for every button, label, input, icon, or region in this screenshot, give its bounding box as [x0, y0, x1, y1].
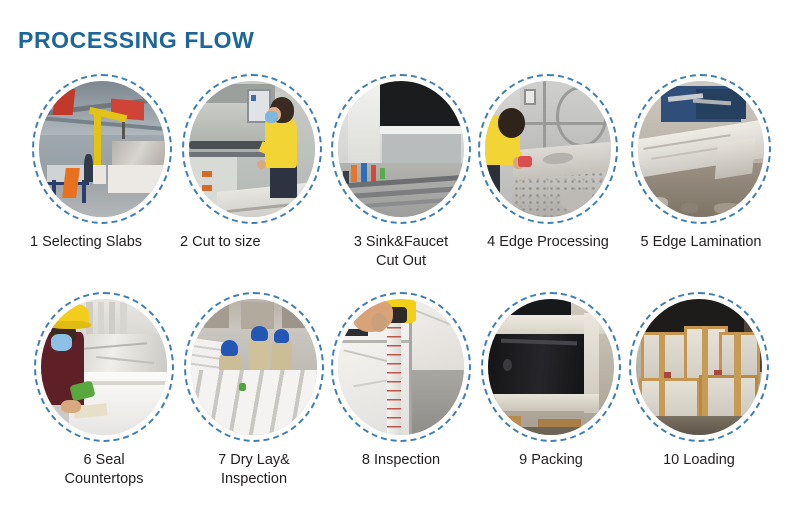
flow-step-1[interactable]: 1 Selecting Slabs — [26, 74, 178, 252]
photo-loading — [636, 299, 762, 435]
photo-edge-processing — [485, 81, 611, 217]
photo-packing — [488, 299, 614, 435]
photo-seal-countertops — [41, 299, 167, 435]
flow-step-3-caption: 3 Sink&Faucet Cut Out — [325, 233, 477, 271]
flow-step-6[interactable]: 6 Seal Countertops — [28, 292, 180, 489]
photo-ring-6 — [34, 292, 174, 442]
photo-ring-3 — [331, 74, 471, 224]
photo-sink-faucet-cut-out — [338, 81, 464, 217]
photo-ring-9 — [481, 292, 621, 442]
photo-ring-8 — [331, 292, 471, 442]
flow-step-3[interactable]: 3 Sink&Faucet Cut Out — [325, 74, 477, 271]
photo-ring-2 — [182, 74, 322, 224]
flow-step-9-caption: 9 Packing — [475, 451, 627, 470]
flow-step-2-caption: 2 Cut to size — [176, 233, 328, 252]
flow-step-5-caption: 5 Edge Lamination — [625, 233, 777, 252]
photo-dry-lay-inspection — [191, 299, 317, 435]
flow-step-9[interactable]: 9 Packing — [475, 292, 627, 470]
flow-step-10[interactable]: 10 Loading — [623, 292, 775, 470]
flow-step-7[interactable]: 7 Dry Lay& Inspection — [178, 292, 330, 489]
flow-step-8-caption: 8 Inspection — [325, 451, 477, 470]
flow-row-1: 1 Selecting Slabs 2 Cut t — [0, 74, 790, 274]
flow-step-2[interactable]: 2 Cut to size — [176, 74, 328, 252]
photo-cut-to-size — [189, 81, 315, 217]
flow-step-10-caption: 10 Loading — [623, 451, 775, 470]
photo-selecting-slabs — [39, 81, 165, 217]
photo-inspection — [338, 299, 464, 435]
flow-step-4-caption: 4 Edge Processing — [472, 233, 624, 252]
flow-step-5[interactable]: 5 Edge Lamination — [625, 74, 777, 252]
page-title: PROCESSING FLOW — [18, 26, 254, 54]
flow-step-6-caption: 6 Seal Countertops — [28, 451, 180, 489]
flow-step-8[interactable]: 8 Inspection — [325, 292, 477, 470]
photo-ring-5 — [631, 74, 771, 224]
photo-ring-1 — [32, 74, 172, 224]
photo-ring-10 — [629, 292, 769, 442]
flow-row-2: 6 Seal Countertops 7 Dry Lay& Inspecti — [0, 292, 790, 492]
photo-edge-lamination — [638, 81, 764, 217]
photo-ring-4 — [478, 74, 618, 224]
processing-flow-page: PROCESSING FLOW 1 Selecting Slabs — [0, 0, 790, 520]
photo-ring-7 — [184, 292, 324, 442]
flow-step-1-caption: 1 Selecting Slabs — [26, 233, 178, 252]
flow-step-7-caption: 7 Dry Lay& Inspection — [178, 451, 330, 489]
flow-step-4[interactable]: 4 Edge Processing — [472, 74, 624, 252]
